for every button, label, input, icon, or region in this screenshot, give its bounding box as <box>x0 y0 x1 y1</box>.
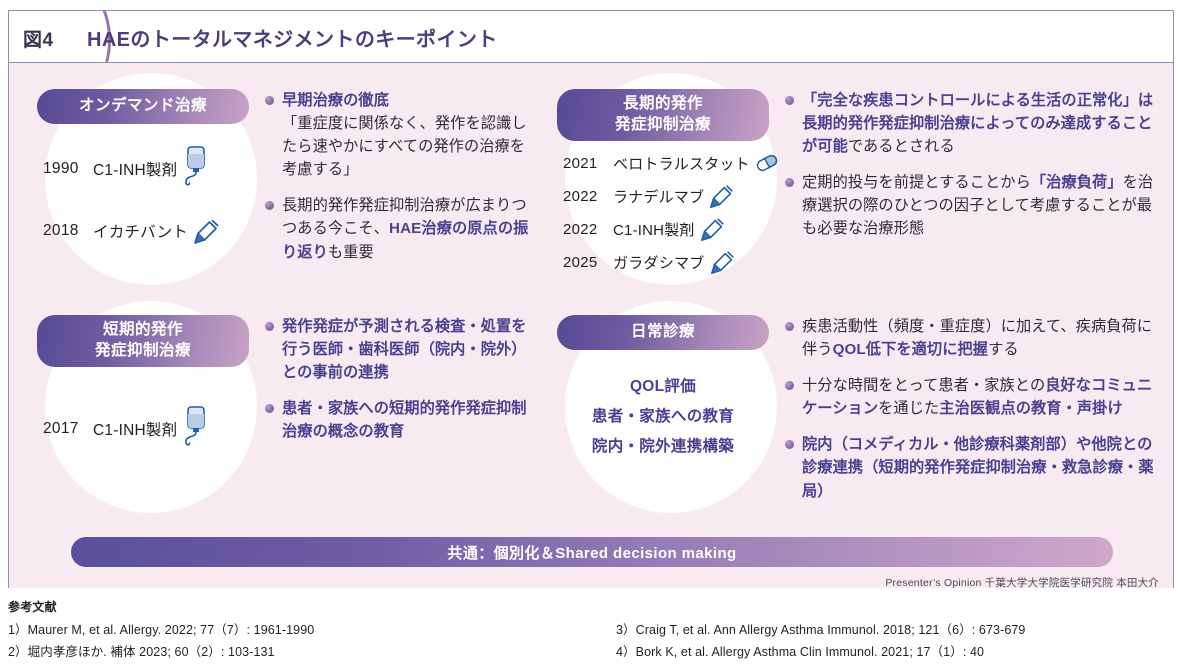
drug-list-short-term: 2017 C1-INH製剤 <box>37 409 249 449</box>
syringe-icon <box>699 215 727 243</box>
reference-item: 2）堀内孝彦ほか. 補体 2023; 60（2）: 103-131 <box>8 641 608 663</box>
references-column-left: 1）Maurer M, et al. Allergy. 2022; 77（7）:… <box>8 619 608 664</box>
bullet-item: 患者・家族への短期的発作発症抑制治療の概念の教育 <box>265 397 537 443</box>
drug-row: 2017 C1-INH製剤 <box>43 409 249 449</box>
quadrant-long-term-prophylaxis: 長期的発作 発症抑制治療 2021 ベロトラルスタット <box>557 89 1167 279</box>
bullet-list-short-term: 発作発症が予測される検査・処置を行う医師・歯科医師（院内・院外）との事前の連携 … <box>265 315 537 456</box>
drug-name: C1-INH製剤 <box>93 418 177 440</box>
drug-year: 2022 <box>563 221 613 238</box>
quadrant-header-label-line2: 発症抑制治療 <box>615 116 711 133</box>
quadrant-header-label: オンデマンド治療 <box>79 97 207 114</box>
capsule-icon <box>754 154 780 172</box>
quadrant-header-long-term: 長期的発作 発症抑制治療 <box>557 89 769 141</box>
references-section: 参考文献 1）Maurer M, et al. Allergy. 2022; 7… <box>8 598 1174 667</box>
figure-panel: 図4 HAEのトータルマネジメントのキーポイント オンデマンド治療 1990 C… <box>8 10 1174 588</box>
qol-line: 患者・家族への教育 <box>557 402 769 432</box>
bullet-item: 十分な時間をとって患者・家族との良好なコミュニケーションを通じた主治医観点の教育… <box>785 374 1167 420</box>
drug-year: 2025 <box>563 254 613 271</box>
reference-item: 3）Craig T, et al. Ann Allergy Asthma Imm… <box>616 619 1176 641</box>
references-title: 参考文献 <box>8 598 1174 615</box>
references-columns: 1）Maurer M, et al. Allergy. 2022; 77（7）:… <box>8 619 1174 667</box>
drug-list-long-term: 2021 ベロトラルスタット 2022 ラナデルマブ <box>557 147 769 279</box>
bullet-item: 「完全な疾患コントロールによる生活の正常化」は長期的発作発症抑制治療によってのみ… <box>785 89 1167 158</box>
drug-row: 2021 ベロトラルスタット <box>563 147 769 180</box>
presenter-credit: Presenter’s Opinion 千葉大学大学院医学研究院 本田大介 <box>885 575 1159 588</box>
figure-number-label: 図4 <box>23 25 54 52</box>
drug-year: 2018 <box>43 222 93 240</box>
drug-name: ガラダシマブ <box>613 252 705 273</box>
quadrant-header-on-demand: オンデマンド治療 <box>37 89 249 124</box>
quadrant-short-term-prophylaxis: 短期的発作 発症抑制治療 2017 C1-INH製剤 <box>37 315 537 449</box>
drug-row: 2022 ラナデルマブ <box>563 180 769 213</box>
iv-bag-icon <box>181 405 211 453</box>
bullet-item: 発作発症が予測される検査・処置を行う医師・歯科医師（院内・院外）との事前の連携 <box>265 315 537 384</box>
common-banner-label: 共通：個別化＆Shared decision making <box>447 542 736 563</box>
drug-name: ラナデルマブ <box>613 186 704 207</box>
page-title: HAEのトータルマネジメントのキーポイント <box>87 23 498 52</box>
bullet-item: 早期治療の徹底「重症度に関係なく、発作を認識したら速やかにすべての発作の治療を考… <box>265 89 537 181</box>
syringe-icon <box>192 216 222 246</box>
bullet-item: 院内（コメディカル・他診療科薬剤部）や他院との診療連携（短期的発作発症抑制治療・… <box>785 433 1167 502</box>
quadrant-header-label-line1: 長期的発作 <box>623 95 703 112</box>
quadrant-header-daily-practice: 日常診療 <box>557 315 769 350</box>
iv-bag-icon <box>181 145 211 193</box>
syringe-icon <box>708 182 736 210</box>
drug-row: 2022 C1-INH製剤 <box>563 213 769 246</box>
quadrant-header-label-line1: 短期的発作 <box>103 321 183 338</box>
drug-name: イカチバント <box>93 220 188 242</box>
drug-name: C1-INH製剤 <box>93 158 177 180</box>
references-column-right: 3）Craig T, et al. Ann Allergy Asthma Imm… <box>616 619 1176 664</box>
qol-line: QOL評価 <box>557 372 769 402</box>
bullet-list-long-term: 「完全な疾患コントロールによる生活の正常化」は長期的発作発症抑制治療によってのみ… <box>785 89 1167 254</box>
drug-year: 2022 <box>563 188 613 205</box>
syringe-icon <box>709 248 737 276</box>
drug-row: 2025 ガラダシマブ <box>563 246 769 279</box>
bullet-item: 疾患活動性（頻度・重症度）に加えて、疾病負荷に伴うQOL低下を適切に把握する <box>785 315 1167 361</box>
bullet-list-daily-practice: 疾患活動性（頻度・重症度）に加えて、疾病負荷に伴うQOL低下を適切に把握する 十… <box>785 315 1167 516</box>
drug-year: 2021 <box>563 155 613 172</box>
drug-row: 1990 C1-INH製剤 <box>43 138 249 200</box>
quadrant-header-label: 日常診療 <box>631 323 695 340</box>
drug-list-on-demand: 1990 C1-INH製剤 2018 イカチバント <box>37 138 249 262</box>
reference-item: 1）Maurer M, et al. Allergy. 2022; 77（7）:… <box>8 619 608 641</box>
bullet-item: 長期的発作発症抑制治療が広まりつつある今こそ、HAE治療の原点の振り返りも重要 <box>265 194 537 263</box>
drug-year: 1990 <box>43 160 93 178</box>
quadrant-header-short-term: 短期的発作 発症抑制治療 <box>37 315 249 367</box>
drug-name: ベロトラルスタット <box>613 153 750 174</box>
bullet-item: 定期的投与を前提とすることから「治療負荷」を治療選択の際のひとつの因子として考慮… <box>785 171 1167 240</box>
drug-row: 2018 イカチバント <box>43 200 249 262</box>
drug-name: C1-INH製剤 <box>613 219 695 240</box>
bullet-list-on-demand: 早期治療の徹底「重症度に関係なく、発作を認識したら速やかにすべての発作の治療を考… <box>265 89 537 277</box>
quadrant-daily-practice: 日常診療 QOL評価 患者・家族への教育 院内・院外連携構築 疾患活動性（頻度・… <box>557 315 1167 463</box>
qol-line: 院内・院外連携構築 <box>557 432 769 462</box>
qol-summary-block: QOL評価 患者・家族への教育 院内・院外連携構築 <box>557 372 769 463</box>
quadrant-on-demand: オンデマンド治療 1990 C1-INH製剤 <box>37 89 537 262</box>
quadrant-header-label-line2: 発症抑制治療 <box>95 342 191 359</box>
reference-item: 4）Bork K, et al. Allergy Asthma Clin Imm… <box>616 641 1176 663</box>
figure-title-bar: 図4 HAEのトータルマネジメントのキーポイント <box>9 11 1173 63</box>
common-banner: 共通：個別化＆Shared decision making <box>71 537 1113 567</box>
drug-year: 2017 <box>43 420 93 438</box>
figure-body: オンデマンド治療 1990 C1-INH製剤 <box>9 63 1173 588</box>
